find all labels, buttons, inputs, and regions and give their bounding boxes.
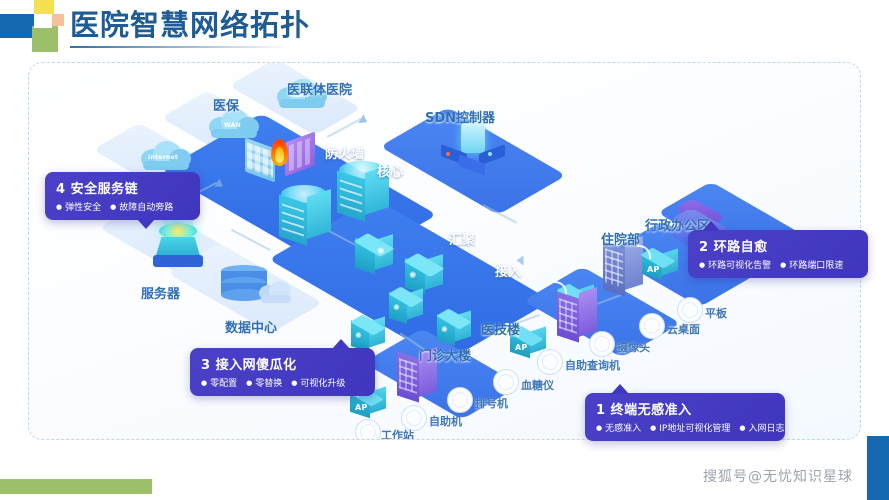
callout-item-1-2: 入网日志 bbox=[739, 421, 784, 434]
label-yibao: 医保 bbox=[213, 95, 239, 114]
terminal-icon-shexiangtou bbox=[589, 331, 615, 357]
cloud-tag-internet: Internet bbox=[148, 154, 178, 161]
terminal-label-5: 排号机 bbox=[475, 395, 508, 411]
callout-title-1: 1 终端无感准入 bbox=[596, 399, 775, 418]
terminal-icon-yunzhuomian bbox=[639, 313, 665, 339]
header-deco-green-block bbox=[32, 26, 58, 52]
access-switch-2: ✺ bbox=[437, 309, 473, 349]
callout-item-2-0: 环路可视化告警 bbox=[699, 258, 771, 271]
callout-item-3-2: 可视化升级 bbox=[291, 376, 345, 389]
callout-tail-4 bbox=[137, 219, 155, 229]
core-switch-node-1 bbox=[279, 185, 335, 247]
label-fuwuqi: 服务器 bbox=[141, 283, 180, 302]
callout-items-3: 零配置 零替换 可视化升级 bbox=[201, 376, 365, 389]
link-core-server bbox=[231, 229, 271, 251]
header-deco-white-block bbox=[34, 14, 52, 28]
page-title: 医院智慧网络拓扑 bbox=[70, 6, 310, 44]
footer-green-bar bbox=[0, 479, 152, 494]
cloud-tag-wan-1: WAN bbox=[224, 122, 241, 129]
label-zhuyuanbu: 住院部 bbox=[601, 229, 640, 248]
callout-number-1: 1 bbox=[596, 403, 606, 418]
label-menzhendalou: 门诊大楼 bbox=[419, 345, 471, 364]
callout-tail-1 bbox=[611, 384, 629, 394]
datacenter-node bbox=[219, 263, 297, 315]
label-sdn-controller: SDN控制器 bbox=[425, 107, 495, 126]
callout-item-4-1: 故障自动旁路 bbox=[110, 200, 173, 213]
label-shujuzhongxin: 数据中心 bbox=[225, 317, 277, 336]
firewall-node bbox=[245, 135, 321, 183]
ap-tag-xingzheng: AP bbox=[647, 265, 660, 274]
label-hexin: 核心 bbox=[377, 161, 403, 180]
callout-security-service-chain[interactable]: 4 安全服务链 弹性安全 故障自动旁路 bbox=[45, 172, 200, 220]
terminal-icon-zizhuchaxunji bbox=[537, 349, 563, 375]
callout-number-4: 4 bbox=[56, 182, 66, 197]
callout-items-2: 环路可视化告警 环路端口限速 bbox=[699, 258, 858, 271]
arrow-icon-3 bbox=[358, 114, 369, 126]
sdn-controller-node bbox=[441, 123, 505, 179]
callout-items-1: 无感准入 IP地址可视化管理 入网日志 bbox=[596, 421, 775, 434]
callout-heading-3: 接入网傻瓜化 bbox=[216, 358, 297, 373]
callout-item-2-1: 环路端口限速 bbox=[780, 258, 843, 271]
callout-item-1-1: IP地址可视化管理 bbox=[650, 421, 730, 434]
callout-terminal-seamless-access[interactable]: 1 终端无感准入 无感准入 IP地址可视化管理 入网日志 bbox=[585, 393, 785, 441]
terminal-label-1: 云桌面 bbox=[667, 321, 700, 337]
slide-root: 医院智慧网络拓扑 bbox=[0, 0, 889, 500]
callout-title-4: 4 安全服务链 bbox=[56, 178, 190, 197]
terminal-icon-xuetangyi bbox=[493, 369, 519, 395]
ap-tag-menzhendalou: AP bbox=[355, 403, 368, 412]
callout-item-3-1: 零替换 bbox=[246, 376, 282, 389]
callout-item-4-0: 弹性安全 bbox=[56, 200, 101, 213]
terminal-label-4: 血糖仪 bbox=[521, 377, 554, 393]
callout-heading-4: 安全服务链 bbox=[71, 182, 139, 197]
footer-blue-bar bbox=[867, 436, 889, 500]
aggregation-switch-1: ✺ bbox=[355, 233, 395, 277]
callout-items-4: 弹性安全 故障自动旁路 bbox=[56, 200, 190, 213]
callout-item-3-0: 零配置 bbox=[201, 376, 237, 389]
callout-number-2: 2 bbox=[699, 240, 709, 255]
terminal-label-0: 平板 bbox=[705, 305, 727, 321]
terminal-icon-paihaoji bbox=[447, 387, 473, 413]
terminal-icon-pingban bbox=[677, 297, 703, 323]
callout-tail-3 bbox=[332, 339, 350, 349]
ap-tag-yijilou: AP bbox=[515, 343, 528, 352]
label-fanghuoqiang: 防火墙 bbox=[325, 143, 364, 162]
callout-number-3: 3 bbox=[201, 358, 211, 373]
terminal-label-2: 摄像头 bbox=[617, 339, 650, 355]
terminal-icon-gongzuozhan bbox=[355, 419, 381, 440]
ap-node-xingzheng: AP bbox=[641, 249, 679, 287]
label-jieru: 接入 bbox=[495, 261, 521, 280]
access-switch-1: ✺ bbox=[389, 287, 425, 327]
header-deco-peach-block bbox=[52, 14, 64, 26]
label-huiju: 汇聚 bbox=[449, 229, 475, 248]
watermark-text: 搜狐号@无忧知识星球 bbox=[703, 466, 853, 486]
callout-title-2: 2 环路自愈 bbox=[699, 236, 858, 255]
callout-loop-self-healing[interactable]: 2 环路自愈 环路可视化告警 环路端口限速 bbox=[688, 230, 868, 278]
terminal-label-7: 工作站 bbox=[381, 427, 414, 440]
label-yijilou: 医技楼 bbox=[481, 319, 520, 338]
callout-heading-1: 终端无感准入 bbox=[611, 403, 692, 418]
callout-access-network-simplified[interactable]: 3 接入网傻瓜化 零配置 零替换 可视化升级 bbox=[190, 348, 375, 396]
terminal-label-6: 自助机 bbox=[429, 413, 462, 429]
callout-heading-2: 环路自愈 bbox=[714, 240, 768, 255]
callout-title-3: 3 接入网傻瓜化 bbox=[201, 354, 365, 373]
title-underline bbox=[70, 46, 290, 48]
label-yiliantiyiyuan: 医联体医院 bbox=[287, 79, 352, 98]
callout-tail-2 bbox=[702, 221, 720, 231]
callout-item-1-0: 无感准入 bbox=[596, 421, 641, 434]
terminal-label-3: 自助查询机 bbox=[565, 357, 620, 373]
cloud-node-zhuanxian: Internet bbox=[137, 137, 195, 171]
